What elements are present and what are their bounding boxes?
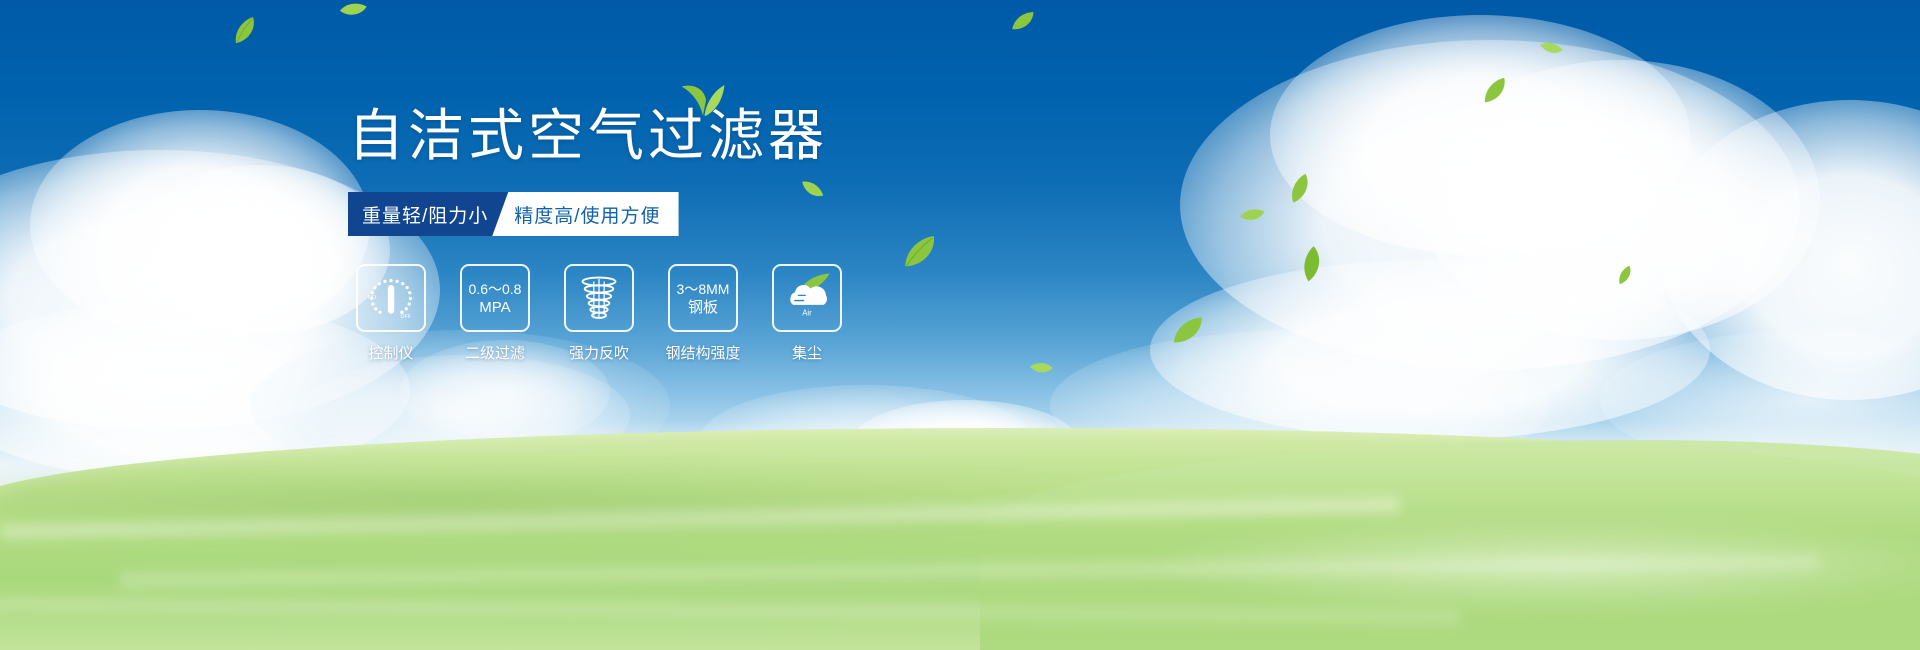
air-label: Air xyxy=(802,308,812,317)
feature-item-filtration[interactable]: 0.6～0.8 MPA 二级过滤 xyxy=(452,264,538,363)
badge-weight-resistance[interactable]: 重量轻/阻力小 xyxy=(348,192,508,236)
product-hero-banner: 自洁式空气过滤器 重量轻/阻力小 精度高/使用方便 xyxy=(0,0,1920,650)
dial-on-label: NO xyxy=(368,295,377,301)
gauge-dial-icon: NO OFF xyxy=(365,272,417,324)
feature-box: 0.6～0.8 MPA xyxy=(460,264,530,332)
cloud-left-mid xyxy=(30,110,370,340)
cloud-right-low xyxy=(1150,260,1710,440)
feature-box: Air xyxy=(772,264,842,332)
leaf-icon-3 xyxy=(1008,10,1037,34)
leaf-icon-1 xyxy=(227,14,264,48)
title-row: 自洁式空气过滤器 xyxy=(348,100,1068,172)
steel-thickness-text: 3～8MM xyxy=(677,280,730,298)
feature-item-backblow[interactable]: 强力反吹 xyxy=(556,264,642,363)
badge-row: 重量轻/阻力小 精度高/使用方便 xyxy=(348,192,668,236)
cloud-right-bulge xyxy=(1420,60,1820,340)
feature-label: 控制仪 xyxy=(368,342,413,363)
feature-box: 3～8MM 钢板 xyxy=(668,264,738,332)
badge-label: 精度高/使用方便 xyxy=(514,201,660,228)
feature-box: NO OFF xyxy=(356,264,426,332)
coil-spiral-icon xyxy=(573,272,625,324)
feature-item-steel[interactable]: 3～8MM 钢板 钢结构强度 xyxy=(660,264,746,363)
badge-label: 重量轻/阻力小 xyxy=(362,201,488,228)
cloud-right-top xyxy=(1270,15,1690,255)
cloud-right-large xyxy=(1180,40,1800,370)
cloud-right-far xyxy=(1660,100,1920,400)
feature-item-dust[interactable]: Air 集尘 xyxy=(764,264,850,363)
feature-label: 集尘 xyxy=(792,342,822,363)
feature-box xyxy=(564,264,634,332)
leaf-icon-7 xyxy=(1238,203,1266,227)
leaf-icon-11 xyxy=(1167,314,1209,348)
leaf-icon-5 xyxy=(1477,75,1513,108)
pressure-unit-text: MPA xyxy=(479,298,510,317)
leaf-icon-4 xyxy=(1537,35,1564,61)
leaf-icon-13 xyxy=(1613,264,1638,288)
air-cloud-icon: Air xyxy=(781,272,833,324)
leaf-icon-6 xyxy=(1281,171,1318,207)
title-leaf-icon xyxy=(680,82,726,116)
feature-label: 二级过滤 xyxy=(465,342,525,363)
leaf-icon-8 xyxy=(1292,243,1332,285)
leaf-icon-2 xyxy=(338,0,369,23)
feature-label: 钢结构强度 xyxy=(665,342,740,363)
banner-content: 自洁式空气过滤器 重量轻/阻力小 精度高/使用方便 xyxy=(348,100,1068,363)
badge-precision-convenience[interactable]: 精度高/使用方便 xyxy=(492,192,678,236)
feature-row: NO OFF 控制仪 0.6～0.8 MPA 二级过滤 xyxy=(348,264,1068,363)
feature-label: 强力反吹 xyxy=(569,342,629,363)
dial-off-label: OFF xyxy=(401,314,411,320)
pressure-range-text: 0.6～0.8 xyxy=(469,280,522,298)
feature-item-controller[interactable]: NO OFF 控制仪 xyxy=(348,264,434,363)
steel-material-text: 钢板 xyxy=(688,298,718,317)
